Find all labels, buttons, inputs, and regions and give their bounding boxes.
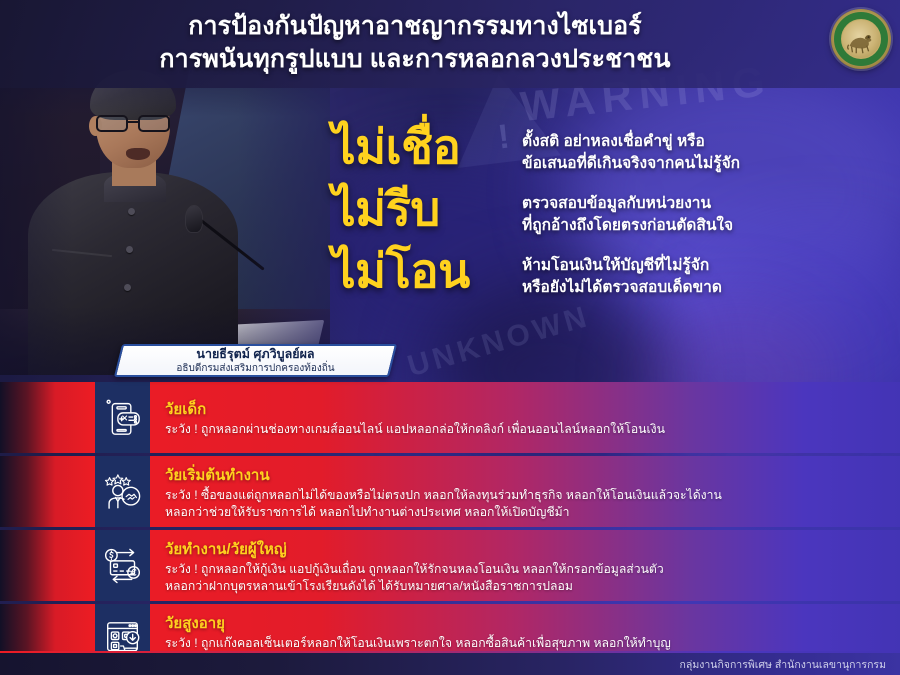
speaker-photo bbox=[0, 60, 330, 375]
title-line-2: การพนันทุกรูปแบบ และการหลอกลวงประชาชน bbox=[0, 43, 830, 76]
footer-credit: กลุ่มงานกิจการพิเศษ สำนักงานเลขานุการกรม bbox=[680, 656, 886, 673]
slogan-keyword: ไม่รีบ bbox=[332, 184, 522, 235]
poster-header: การป้องกันปัญหาอาชญากรรมทางไซเบอร์ การพน… bbox=[0, 0, 900, 88]
slogan-item-3: ไม่โอน ห้ามโอนเงินให้บัญชีที่ไม่รู้จัก ห… bbox=[332, 246, 892, 299]
speaker-role: อธิบดีกรมส่งเสริมการปกครองท้องถิ่น bbox=[176, 363, 334, 375]
row-body-line: ระวัง ! ถูกแก๊งคอลเซ็นเตอร์หลอกให้โอนเงิ… bbox=[165, 635, 671, 652]
slogan-keyword: ไม่โอน bbox=[332, 246, 522, 297]
slogan-description: ตั้งสติ อย่าหลงเชื่อคำขู่ หรือ ข้อเสนอที… bbox=[522, 122, 740, 175]
slogan-desc-line: ตรวจสอบข้อมูลกับหน่วยงาน bbox=[522, 193, 733, 215]
age-group-row: วัยทำงาน/วัยผู้ใหญ่ ระวัง ! ถูกหลอกให้กู… bbox=[0, 530, 900, 601]
row-title: วัยสูงอายุ bbox=[165, 615, 671, 633]
age-group-list: วัยเด็ก ระวัง ! ถูกหลอกผ่านช่องทางเกมส์อ… bbox=[0, 382, 900, 675]
slogan-description: ตรวจสอบข้อมูลกับหน่วยงาน ที่ถูกอ้างถึงโด… bbox=[522, 184, 733, 237]
row-title: วัยเด็ก bbox=[165, 401, 665, 419]
smartphone-gamepad-icon bbox=[104, 397, 141, 438]
slogan-desc-line: ตั้งสติ อย่าหลงเชื่อคำขู่ หรือ bbox=[522, 131, 740, 153]
row-icon-box bbox=[95, 530, 150, 601]
photo-gradient-overlay bbox=[0, 60, 330, 375]
businessman-handshake-stars-icon bbox=[104, 471, 141, 512]
speaker-nameplate: นายธีรุตม์ ศุภวิบูลย์ผล อธิบดีกรมส่งเสริ… bbox=[114, 344, 397, 377]
seal-lion-figure bbox=[842, 20, 880, 58]
row-icon-box bbox=[95, 456, 150, 527]
row-body-line: ระวัง ! ถูกหลอกให้กู้เงิน แอปกู้เงินเถื่… bbox=[165, 561, 664, 578]
poster-footer: กลุ่มงานกิจการพิเศษ สำนักงานเลขานุการกรม bbox=[0, 653, 900, 675]
page-title: การป้องกันปัญหาอาชญากรรมทางไซเบอร์ การพน… bbox=[0, 10, 830, 76]
slogan-item-1: ไม่เชื่อ ตั้งสติ อย่าหลงเชื่อคำขู่ หรือ … bbox=[332, 122, 892, 175]
row-text-block: วัยเด็ก ระวัง ! ถูกหลอกผ่านช่องทางเกมส์อ… bbox=[150, 382, 665, 453]
row-left-cap bbox=[0, 530, 95, 601]
unknown-watermark: UNKNOWN bbox=[404, 300, 594, 384]
slogan-keyword: ไม่เชื่อ bbox=[332, 122, 522, 173]
row-left-cap bbox=[0, 456, 95, 527]
seal-inner-disc bbox=[842, 20, 880, 58]
row-icon-box bbox=[95, 382, 150, 453]
row-text-block: วัยทำงาน/วัยผู้ใหญ่ ระวัง ! ถูกหลอกให้กู… bbox=[150, 530, 664, 601]
slogan-description: ห้ามโอนเงินให้บัญชีที่ไม่รู้จัก หรือยังไ… bbox=[522, 246, 722, 299]
slogan-desc-line: ห้ามโอนเงินให้บัญชีที่ไม่รู้จัก bbox=[522, 255, 722, 277]
slogan-desc-line: ข้อเสนอที่ดีเกินจริงจากคนไม่รู้จัก bbox=[522, 153, 740, 175]
title-line-1: การป้องกันปัญหาอาชญากรรมทางไซเบอร์ bbox=[0, 10, 830, 43]
slogan-desc-line: หรือยังไม่ได้ตรวจสอบเด็ดขาด bbox=[522, 277, 722, 299]
row-text-block: วัยเริ่มต้นทำงาน ระวัง ! ซื้อของแต่ถูกหล… bbox=[150, 456, 722, 527]
speaker-name: นายธีรุตม์ ศุภวิบูลย์ผล bbox=[196, 348, 314, 362]
row-body: ระวัง ! ซื้อของแต่ถูกหลอกไม่ได้ของหรือไม… bbox=[165, 487, 722, 521]
row-left-cap bbox=[0, 382, 95, 453]
money-transfer-card-icon bbox=[104, 545, 141, 586]
row-body: ระวัง ! ถูกหลอกให้กู้เงิน แอปกู้เงินเถื่… bbox=[165, 561, 664, 595]
slogan-list: ไม่เชื่อ ตั้งสติ อย่าหลงเชื่อคำขู่ หรือ … bbox=[332, 122, 892, 299]
row-body-line: ระวัง ! ถูกหลอกผ่านช่องทางเกมส์ออนไลน์ แ… bbox=[165, 421, 665, 438]
row-title: วัยเริ่มต้นทำงาน bbox=[165, 467, 722, 485]
infographic-poster: ! WARNING UNKNOWN การป้องกันปัญหาอาชญากร… bbox=[0, 0, 900, 675]
slogan-desc-line: ที่ถูกอ้างถึงโดยตรงก่อนตัดสินใจ bbox=[522, 215, 733, 237]
row-body-line: ระวัง ! ซื้อของแต่ถูกหลอกไม่ได้ของหรือไม… bbox=[165, 487, 722, 504]
slogan-item-2: ไม่รีบ ตรวจสอบข้อมูลกับหน่วยงาน ที่ถูกอ้… bbox=[332, 184, 892, 237]
row-title: วัยทำงาน/วัยผู้ใหญ่ bbox=[165, 541, 664, 559]
age-group-row: วัยเด็ก ระวัง ! ถูกหลอกผ่านช่องทางเกมส์อ… bbox=[0, 382, 900, 453]
row-body: ระวัง ! ถูกหลอกผ่านช่องทางเกมส์ออนไลน์ แ… bbox=[165, 421, 665, 438]
row-body-line: หลอกว่าช่วยให้รับราชการได้ หลอกไปทำงานต่… bbox=[165, 504, 722, 521]
age-group-row: วัยเริ่มต้นทำงาน ระวัง ! ซื้อของแต่ถูกหล… bbox=[0, 456, 900, 527]
row-body-line: หลอกว่าฝากบุตรหลานเข้าโรงเรียนดังได้ ได้… bbox=[165, 578, 664, 595]
department-seal-icon bbox=[831, 9, 891, 69]
